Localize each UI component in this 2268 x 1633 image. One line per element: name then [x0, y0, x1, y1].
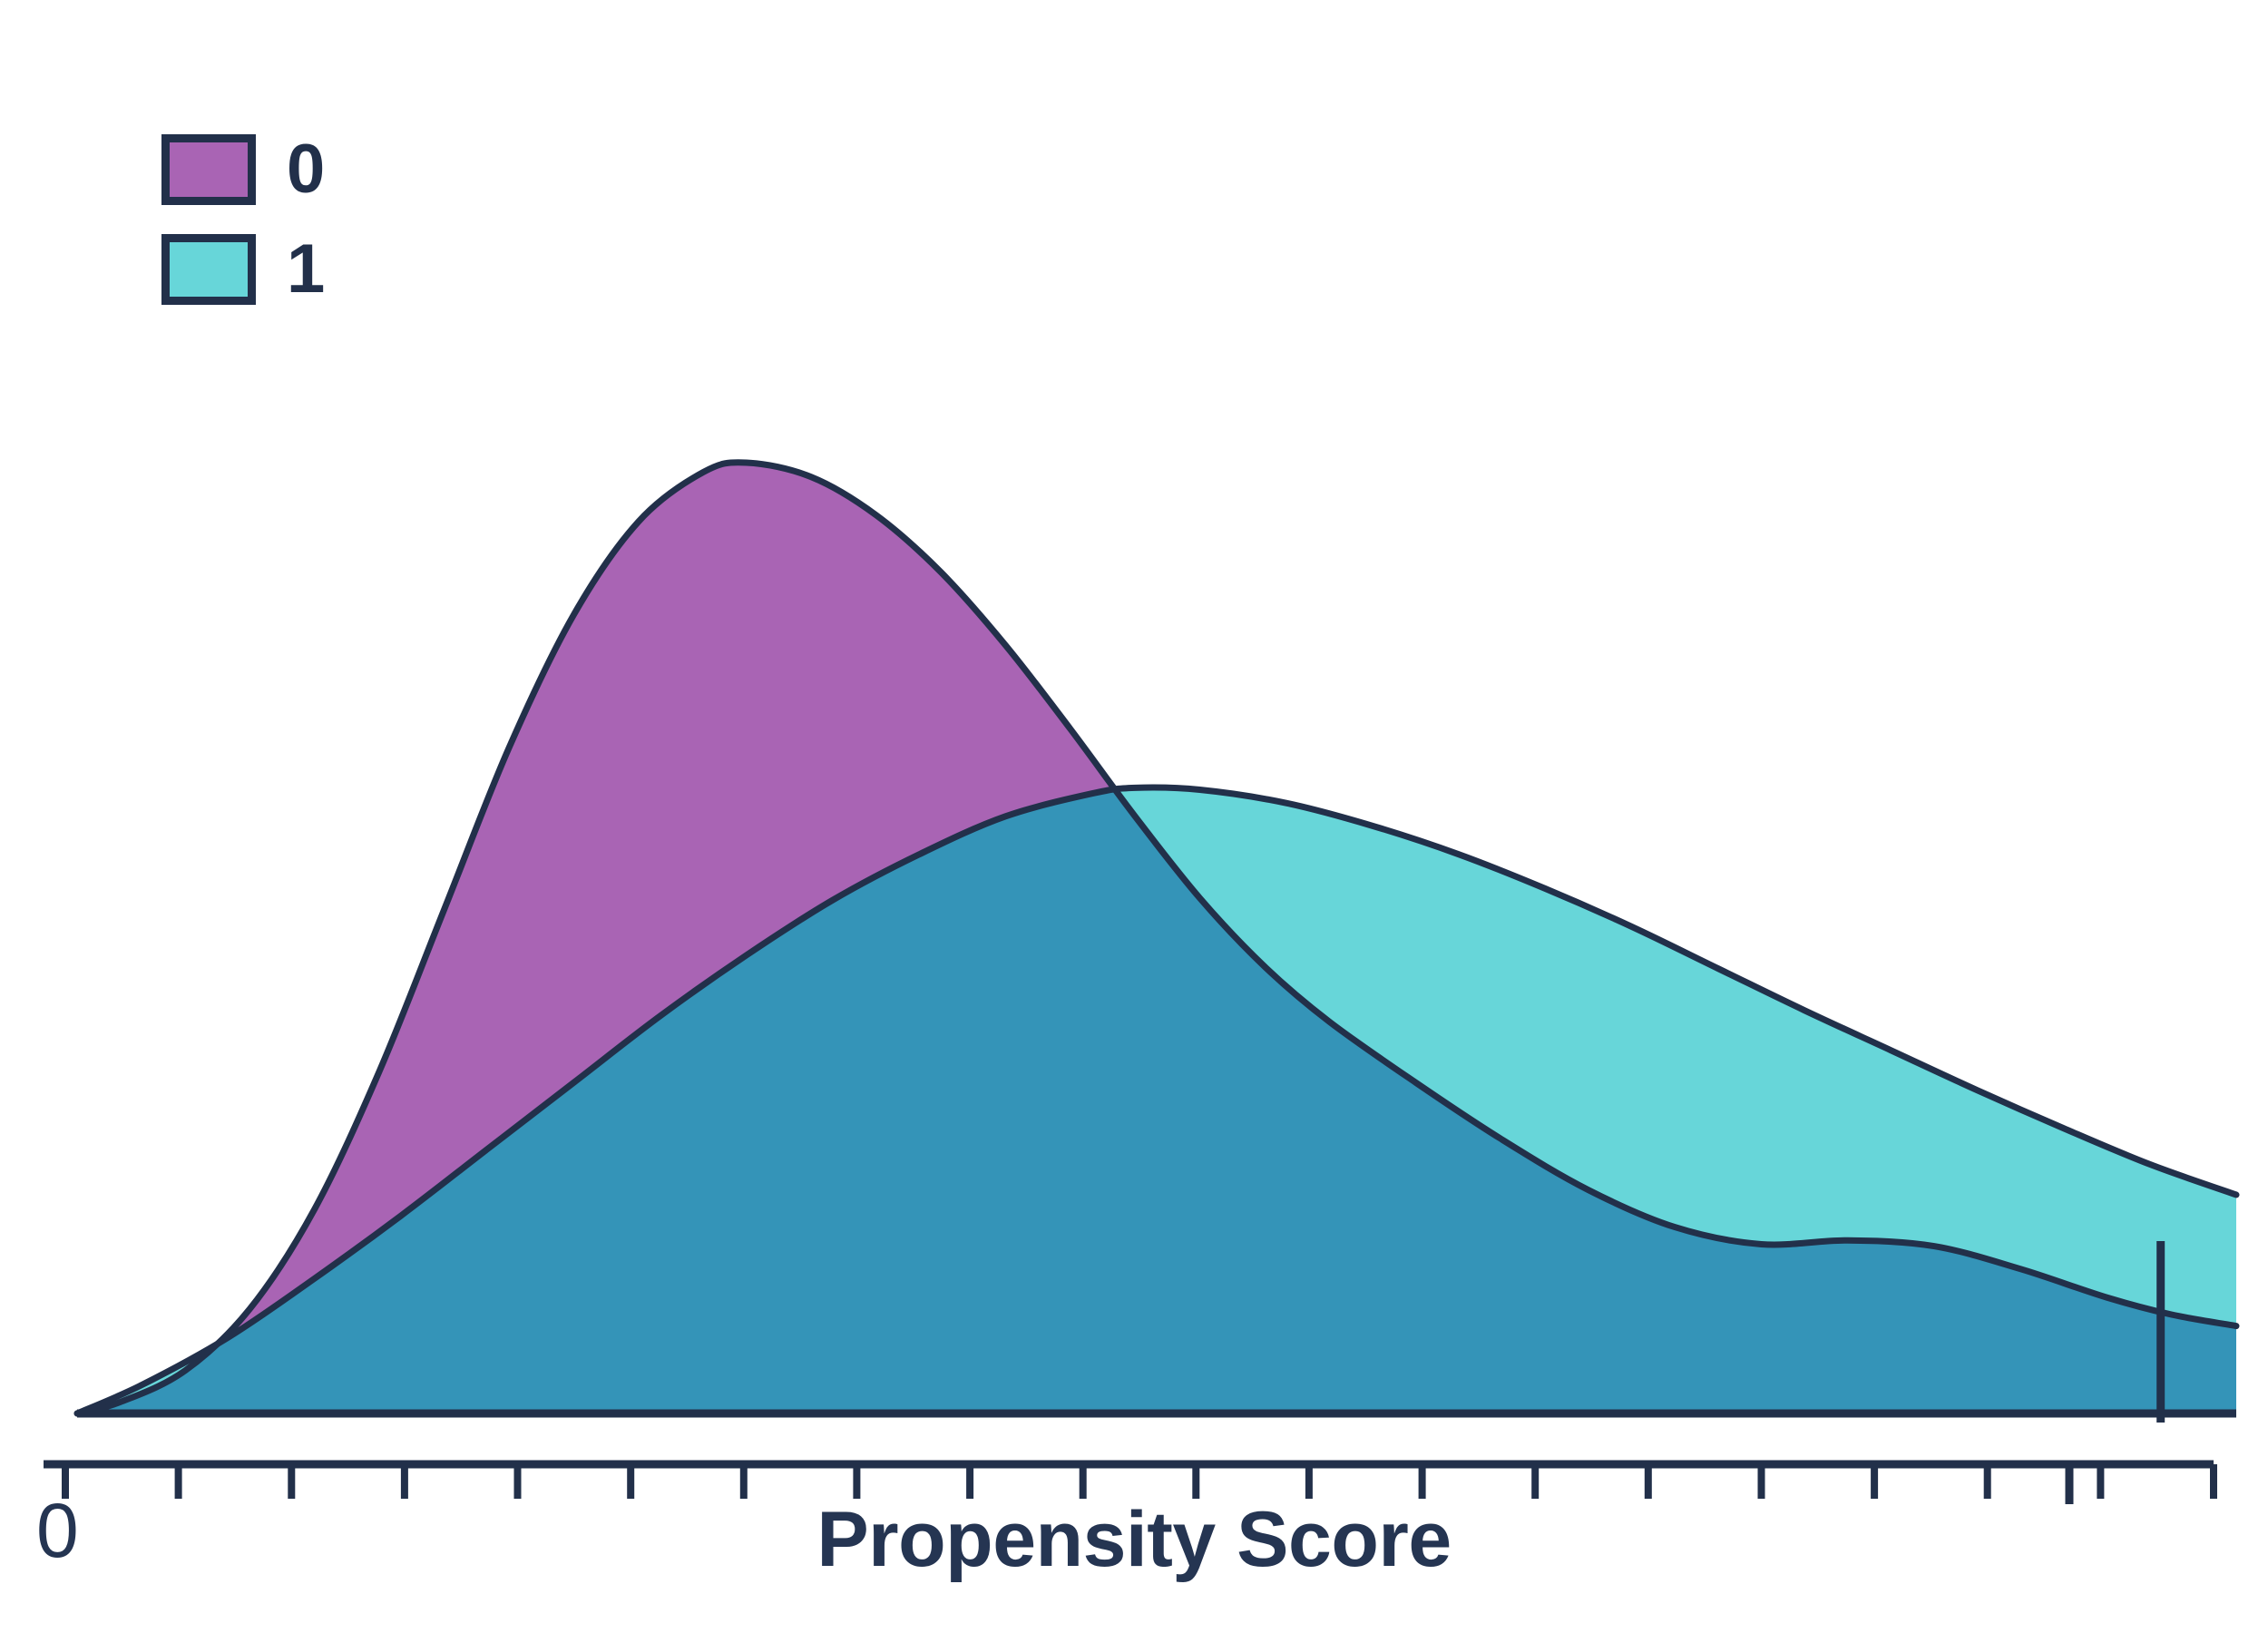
legend: 0 1	[161, 134, 326, 305]
propensity-score-density-chart: 0 1 0 Propensity Score	[0, 0, 2268, 1633]
legend-swatch-0	[161, 134, 256, 205]
x-axis-title: Propensity Score	[0, 1495, 2268, 1585]
legend-label-1: 1	[287, 235, 326, 304]
legend-swatch-1	[161, 234, 256, 305]
legend-item-0[interactable]: 0	[161, 134, 326, 205]
density-plot-canvas	[0, 0, 2268, 1633]
legend-item-1[interactable]: 1	[161, 234, 326, 305]
legend-label-0: 0	[287, 135, 326, 204]
